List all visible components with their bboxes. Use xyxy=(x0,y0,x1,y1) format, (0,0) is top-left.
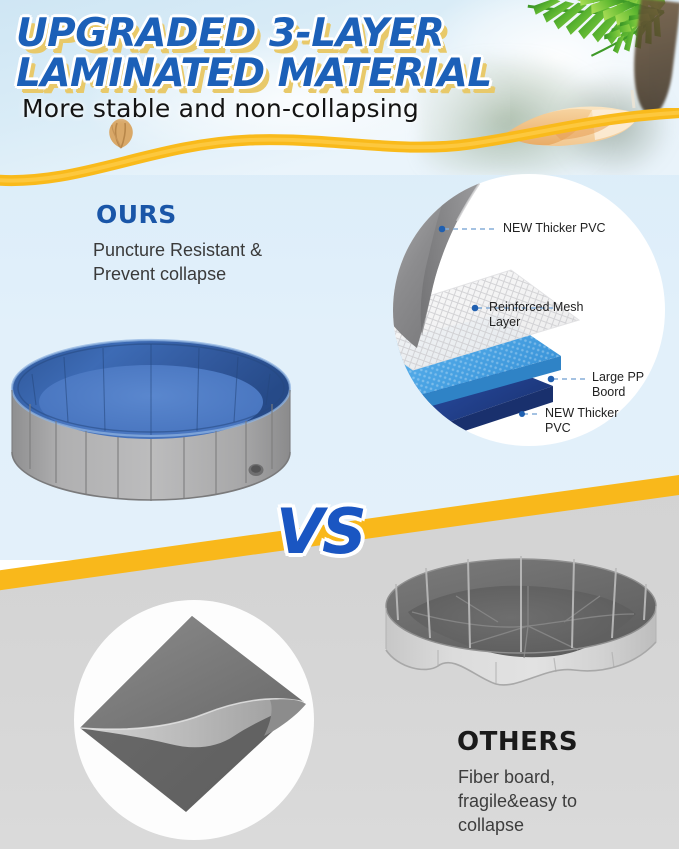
vs-label: VS xyxy=(276,501,365,563)
title-line-2: LAMINATED MATERIAL xyxy=(16,54,536,94)
header-subtitle: More stable and non-collapsing xyxy=(22,95,419,123)
delamination-detail-circle xyxy=(74,600,314,840)
others-label: OTHERS xyxy=(457,727,578,757)
others-pool-image xyxy=(378,546,668,726)
drain-plug-icon xyxy=(249,464,264,476)
ours-description: Puncture Resistant & Prevent collapse xyxy=(93,238,303,286)
callout-dots xyxy=(439,226,555,417)
infographic-poster: UPGRADED 3-LAYER LAMINATED MATERIAL More… xyxy=(0,0,679,849)
layer-callouts xyxy=(393,174,679,464)
ours-label: OURS xyxy=(96,200,177,229)
others-description: Fiber board, fragile&easy to collapse xyxy=(458,765,648,837)
title-line-1: UPGRADED 3-LAYER xyxy=(16,14,536,54)
ours-pool-image xyxy=(6,330,296,515)
peeling-sheet-illustration xyxy=(74,600,314,840)
header-title: UPGRADED 3-LAYER LAMINATED MATERIAL xyxy=(16,14,536,94)
